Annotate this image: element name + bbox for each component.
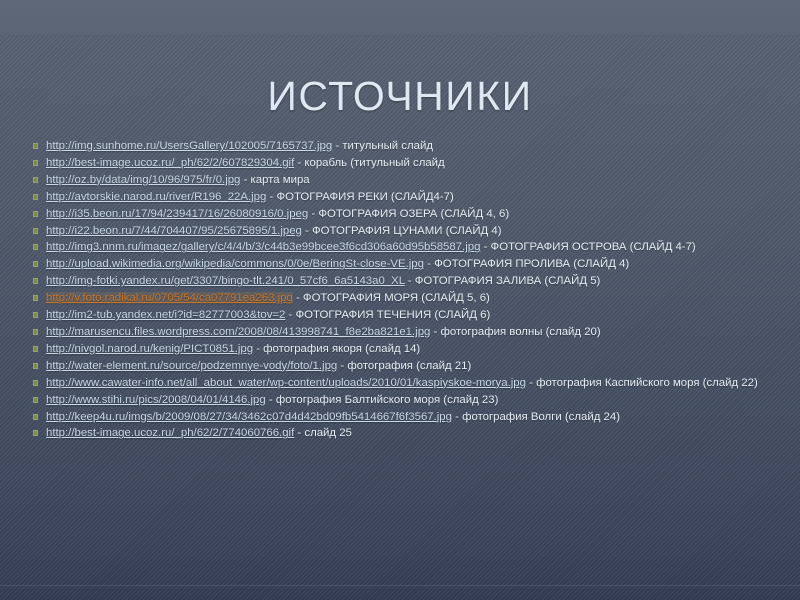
source-description: - карта мира xyxy=(240,174,309,186)
source-description: - фотография волны (слайд 20) xyxy=(430,326,600,338)
list-item: http://v.foto.radikal.ru/0705/54/ca07791… xyxy=(33,290,773,306)
source-link[interactable]: http://best-image.ucoz.ru/_ph/62/2/77406… xyxy=(46,427,294,439)
source-description: - фотография (слайд 21) xyxy=(337,360,471,372)
list-item: http://www.stihi.ru/pics/2008/04/01/4146… xyxy=(33,392,773,408)
list-item: http://i22.beon.ru/7/44/704407/95/256758… xyxy=(33,223,773,239)
page-title: ИСТОЧНИКИ xyxy=(0,73,800,120)
bullet-square-icon xyxy=(33,363,38,369)
list-item: http://marusencu.files.wordpress.com/200… xyxy=(33,324,773,340)
bullet-square-icon xyxy=(33,380,38,386)
source-description: - фотография Каспийского моря (слайд 22) xyxy=(526,377,758,389)
bullet-square-icon xyxy=(33,194,38,200)
bullet-square-icon xyxy=(33,278,38,284)
list-item: http://img-fotki.yandex.ru/get/3307/bing… xyxy=(33,273,773,289)
source-description: - корабль (титульный слайд xyxy=(294,157,444,169)
sources-list: http://img.sunhome.ru/UsersGallery/10200… xyxy=(33,138,773,442)
list-item: http://img3.nnm.ru/imagez/gallery/c/4/4/… xyxy=(33,239,773,255)
source-link[interactable]: http://marusencu.files.wordpress.com/200… xyxy=(46,326,430,338)
source-link[interactable]: http://avtorskie.narod.ru/river/R196_22A… xyxy=(46,191,266,203)
source-link[interactable]: http://img-fotki.yandex.ru/get/3307/bing… xyxy=(46,275,405,287)
bullet-square-icon xyxy=(33,329,38,335)
source-description: - фотография Волги (слайд 24) xyxy=(452,411,620,423)
list-item: http://best-image.ucoz.ru/_ph/62/2/60782… xyxy=(33,155,773,171)
source-description: - титульный слайд xyxy=(332,140,433,152)
bullet-square-icon xyxy=(33,430,38,436)
source-description: - фотография якоря (слайд 14) xyxy=(253,343,420,355)
source-description: - фотография Балтийского моря (слайд 23) xyxy=(266,394,499,406)
source-link[interactable]: http://www.stihi.ru/pics/2008/04/01/4146… xyxy=(46,394,266,406)
source-link[interactable]: http://nivgol.narod.ru/kenig/PICT0851.jp… xyxy=(46,343,253,355)
list-item: http://keep4u.ru/imgs/b/2009/08/27/34/34… xyxy=(33,409,773,425)
bullet-square-icon xyxy=(33,160,38,166)
list-item: http://oz.by/data/img/10/96/975/fr/0.jpg… xyxy=(33,172,773,188)
source-link[interactable]: http://upload.wikimedia.org/wikipedia/co… xyxy=(46,258,424,270)
list-item: http://water-element.ru/source/podzemnye… xyxy=(33,358,773,374)
source-description: - ФОТОГРАФИЯ ПРОЛИВА (СЛАЙД 4) xyxy=(424,258,629,270)
source-link[interactable]: http://oz.by/data/img/10/96/975/fr/0.jpg xyxy=(46,174,240,186)
bullet-square-icon xyxy=(33,397,38,403)
source-description: - ФОТОГРАФИЯ ОСТРОВА (СЛАЙД 4-7) xyxy=(480,241,695,253)
source-link[interactable]: http://img.sunhome.ru/UsersGallery/10200… xyxy=(46,140,332,152)
list-item: http://www.cawater-info.net/all_about_wa… xyxy=(33,375,773,391)
bullet-square-icon xyxy=(33,228,38,234)
list-item: http://best-image.ucoz.ru/_ph/62/2/77406… xyxy=(33,425,773,441)
bullet-square-icon xyxy=(33,211,38,217)
source-link[interactable]: http://i35.beon.ru/17/94/239417/16/26080… xyxy=(46,208,308,220)
source-link[interactable]: http://keep4u.ru/imgs/b/2009/08/27/34/34… xyxy=(46,411,452,423)
bullet-square-icon xyxy=(33,414,38,420)
source-description: - слайд 25 xyxy=(294,427,352,439)
slide-bottom-rule xyxy=(0,585,800,586)
presentation-slide: ИСТОЧНИКИ http://img.sunhome.ru/UsersGal… xyxy=(0,0,800,600)
source-link[interactable]: http://im2-tub.yandex.net/i?id=82777003&… xyxy=(46,309,285,321)
source-link[interactable]: http://v.foto.radikal.ru/0705/54/ca07791… xyxy=(46,292,293,304)
source-link[interactable]: http://water-element.ru/source/podzemnye… xyxy=(46,360,337,372)
list-item: http://i35.beon.ru/17/94/239417/16/26080… xyxy=(33,206,773,222)
source-description: - ФОТОГРАФИЯ ТЕЧЕНИЯ (СЛАЙД 6) xyxy=(285,309,490,321)
source-description: - ФОТОГРАФИЯ МОРЯ (СЛАЙД 5, 6) xyxy=(293,292,490,304)
source-description: - ФОТОГРАФИЯ ЦУНАМИ (СЛАЙД 4) xyxy=(302,225,502,237)
bullet-square-icon xyxy=(33,312,38,318)
source-link[interactable]: http://best-image.ucoz.ru/_ph/62/2/60782… xyxy=(46,157,294,169)
source-link[interactable]: http://www.cawater-info.net/all_about_wa… xyxy=(46,377,526,389)
source-link[interactable]: http://img3.nnm.ru/imagez/gallery/c/4/4/… xyxy=(46,241,480,253)
bullet-square-icon xyxy=(33,143,38,149)
bullet-square-icon xyxy=(33,177,38,183)
source-description: - ФОТОГРАФИЯ РЕКИ (СЛАЙД4-7) xyxy=(266,191,453,203)
bullet-square-icon xyxy=(33,346,38,352)
bullet-square-icon xyxy=(33,261,38,267)
list-item: http://img.sunhome.ru/UsersGallery/10200… xyxy=(33,138,773,154)
slide-top-band xyxy=(0,0,800,35)
bullet-square-icon xyxy=(33,295,38,301)
source-description: - ФОТОГРАФИЯ ОЗЕРА (СЛАЙД 4, 6) xyxy=(308,208,509,220)
list-item: http://im2-tub.yandex.net/i?id=82777003&… xyxy=(33,307,773,323)
list-item: http://avtorskie.narod.ru/river/R196_22A… xyxy=(33,189,773,205)
bullet-square-icon xyxy=(33,244,38,250)
source-link[interactable]: http://i22.beon.ru/7/44/704407/95/256758… xyxy=(46,225,302,237)
list-item: http://upload.wikimedia.org/wikipedia/co… xyxy=(33,256,773,272)
list-item: http://nivgol.narod.ru/kenig/PICT0851.jp… xyxy=(33,341,773,357)
source-description: - ФОТОГРАФИЯ ЗАЛИВА (СЛАЙД 5) xyxy=(405,275,601,287)
